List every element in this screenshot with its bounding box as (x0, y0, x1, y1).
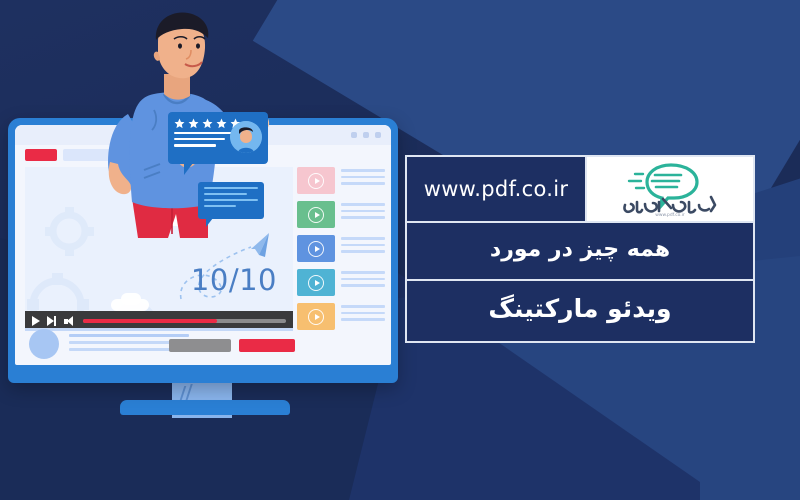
play-circle-icon[interactable] (308, 173, 324, 189)
text-line (341, 250, 385, 253)
text-line (341, 244, 385, 247)
text-line (174, 132, 234, 134)
list-item[interactable] (297, 167, 385, 194)
brand-logo: www.pdf.co.ir (587, 157, 753, 221)
play-circle-icon[interactable] (308, 207, 324, 223)
user-avatar-icon (230, 121, 262, 153)
meta-divider (25, 328, 293, 331)
text-panel: www.pdf.co.ir (405, 155, 755, 341)
browser-red-button[interactable] (25, 149, 57, 161)
monitor-neck-glint-2 (185, 384, 193, 401)
star-icon (188, 118, 199, 129)
message-speech-bubble (198, 182, 264, 219)
text-line (341, 237, 385, 240)
play-icon[interactable] (32, 316, 40, 326)
headline-line-1: همه چیز در مورد (407, 223, 753, 279)
playlist-thumbnail[interactable] (297, 201, 335, 228)
text-line (341, 176, 385, 179)
cloud-icon (121, 293, 141, 305)
browser-window-dots (351, 132, 381, 138)
text-line (341, 318, 385, 321)
playlist-text-lines (341, 201, 385, 223)
window-dot-icon (375, 132, 381, 138)
playlist-text-lines (341, 269, 385, 291)
website-url-label[interactable]: www.pdf.co.ir (407, 157, 587, 221)
text-line (341, 210, 385, 213)
playlist-text-lines (341, 303, 385, 325)
play-circle-icon[interactable] (308, 309, 324, 325)
subscribe-button[interactable] (239, 339, 295, 352)
star-icon (174, 118, 185, 129)
text-line (204, 187, 258, 189)
text-line (341, 284, 385, 287)
text-line (341, 182, 385, 185)
text-line (204, 199, 258, 201)
window-dot-icon (363, 132, 369, 138)
playlist-text-lines (341, 167, 385, 189)
playlist-text-lines (341, 235, 385, 257)
bubble-tail (184, 163, 193, 175)
list-item[interactable] (297, 269, 385, 296)
play-circle-icon[interactable] (308, 275, 324, 291)
text-line (204, 193, 247, 195)
playlist-thumbnail[interactable] (297, 303, 335, 330)
panel-row-url: www.pdf.co.ir (405, 155, 755, 223)
next-track-icon[interactable] (47, 316, 57, 326)
star-rating (174, 118, 241, 129)
list-item[interactable] (297, 235, 385, 262)
text-line (341, 216, 385, 219)
text-line (341, 203, 385, 206)
text-line (341, 312, 385, 315)
window-dot-icon (351, 132, 357, 138)
playlist-thumbnail[interactable] (297, 167, 335, 194)
progress-bar-fill (83, 319, 217, 323)
review-speech-bubble (168, 112, 268, 164)
star-icon (202, 118, 213, 129)
text-line (174, 144, 216, 146)
review-text-lines (174, 132, 234, 151)
list-item[interactable] (297, 303, 385, 330)
text-line (69, 334, 189, 337)
text-line (341, 305, 385, 308)
text-line (341, 169, 385, 172)
play-circle-icon[interactable] (308, 241, 324, 257)
monitor-base (120, 400, 290, 415)
avatar (29, 329, 59, 359)
panel-row-headline-1: همه چیز در مورد (405, 221, 755, 281)
video-score-label: 10/10 (191, 263, 277, 297)
logo-sub-url: www.pdf.co.ir (655, 212, 685, 217)
text-line (341, 278, 385, 281)
playlist-thumbnail[interactable] (297, 235, 335, 262)
progress-bar[interactable] (83, 319, 286, 323)
poster-canvas: 10/10 (0, 0, 800, 500)
headline-line-2: ویدئو مارکتینگ (407, 281, 753, 341)
video-meta-row (25, 331, 293, 357)
text-line (341, 271, 385, 274)
star-icon (216, 118, 227, 129)
pishgaman-logo-icon: www.pdf.co.ir (611, 161, 729, 217)
panel-row-headline-2: ویدئو مارکتینگ (405, 279, 755, 343)
bubble-tail (206, 218, 213, 227)
playlist (297, 167, 385, 355)
secondary-button[interactable] (169, 339, 231, 352)
text-line (204, 205, 236, 207)
playlist-thumbnail[interactable] (297, 269, 335, 296)
list-item[interactable] (297, 201, 385, 228)
text-line (174, 138, 225, 140)
volume-icon[interactable] (64, 316, 76, 327)
